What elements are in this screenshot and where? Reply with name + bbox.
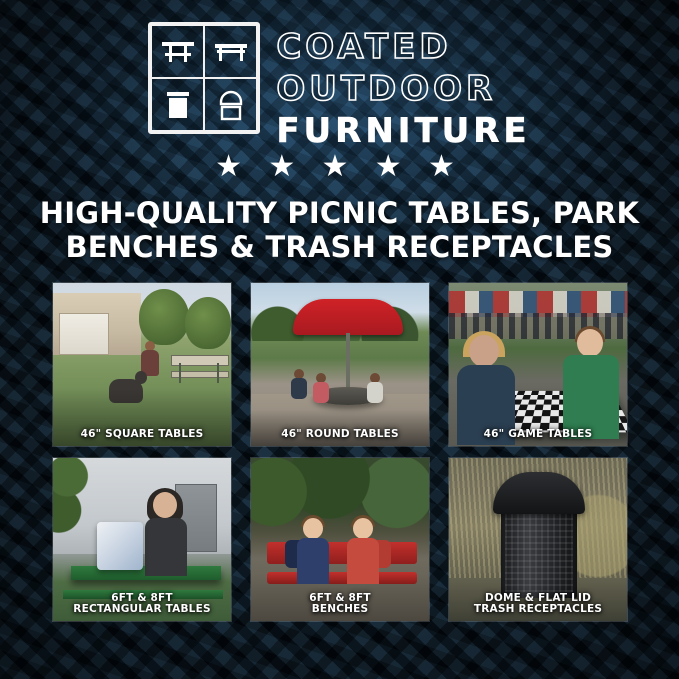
brand-logo: COATED OUTDOOR FURNITURE xyxy=(0,22,679,152)
product-tile-rectangular-tables[interactable]: 6FT & 8FT RECTANGULAR TABLES xyxy=(52,457,232,622)
tile-caption: DOME & FLAT LID TRASH RECEPTACLES xyxy=(449,589,627,622)
caption-line-1: 46" GAME TABLES xyxy=(484,428,593,440)
tile-caption: 46" ROUND TABLES xyxy=(251,425,429,446)
caption-line-1: DOME & FLAT LID xyxy=(485,592,591,604)
flat-lid-trash-icon xyxy=(163,88,193,122)
caption-line-1: 6FT & 8FT xyxy=(309,592,371,604)
dome-lid-trash-icon xyxy=(216,88,246,122)
product-tile-trash-receptacles[interactable]: DOME & FLAT LID TRASH RECEPTACLES xyxy=(448,457,628,622)
tile-caption: 46" SQUARE TABLES xyxy=(53,425,231,446)
product-tile-game-tables[interactable]: 46" GAME TABLES xyxy=(448,282,628,447)
photo-round-tables xyxy=(251,283,429,446)
tile-caption: 6FT & 8FT BENCHES xyxy=(251,589,429,622)
brand-word-furniture: FURNITURE xyxy=(276,110,530,152)
brand-wordmark: COATED OUTDOOR FURNITURE xyxy=(276,22,530,152)
caption-line-1: 46" ROUND TABLES xyxy=(281,428,399,440)
bench-icon xyxy=(213,38,249,66)
headline-line-1: HIGH-QUALITY PICNIC TABLES, PARK xyxy=(40,196,639,230)
caption-line-2: RECTANGULAR TABLES xyxy=(55,604,229,616)
brand-word-outdoor: OUTDOOR xyxy=(276,68,530,110)
caption-line-2: BENCHES xyxy=(253,604,427,616)
caption-line-1: 6FT & 8FT xyxy=(111,592,173,604)
product-tile-benches[interactable]: 6FT & 8FT BENCHES xyxy=(250,457,430,622)
tile-caption: 6FT & 8FT RECTANGULAR TABLES xyxy=(53,589,231,622)
logo-cell-flat-lid-receptacle-icon xyxy=(151,78,204,131)
brand-word-coated: COATED xyxy=(276,26,530,68)
caption-line-1: 46" SQUARE TABLES xyxy=(81,428,204,440)
photo-game-tables xyxy=(449,283,627,446)
product-tile-round-tables[interactable]: 46" ROUND TABLES xyxy=(250,282,430,447)
logo-icon xyxy=(148,22,260,134)
picnic-table-icon xyxy=(160,37,196,67)
logo-cell-dome-lid-receptacle-icon xyxy=(204,78,257,131)
headline-line-2: BENCHES & TRASH RECEPTACLES xyxy=(0,230,679,264)
star-rating: ★ ★ ★ ★ ★ xyxy=(0,152,679,182)
tile-caption: 46" GAME TABLES xyxy=(449,425,627,446)
caption-line-2: TRASH RECEPTACLES xyxy=(451,604,625,616)
logo-cell-picnic-table-icon xyxy=(151,25,204,78)
product-tile-square-tables[interactable]: 46" SQUARE TABLES xyxy=(52,282,232,447)
product-banner: COATED OUTDOOR FURNITURE ★ ★ ★ ★ ★ HIGH-… xyxy=(0,0,679,679)
product-grid: 46" SQUARE TABLES 46" ROUND TABLES xyxy=(52,282,628,622)
page-title: HIGH-QUALITY PICNIC TABLES, PARK BENCHES… xyxy=(0,196,679,264)
logo-cell-bench-icon xyxy=(204,25,257,78)
photo-square-tables xyxy=(53,283,231,446)
